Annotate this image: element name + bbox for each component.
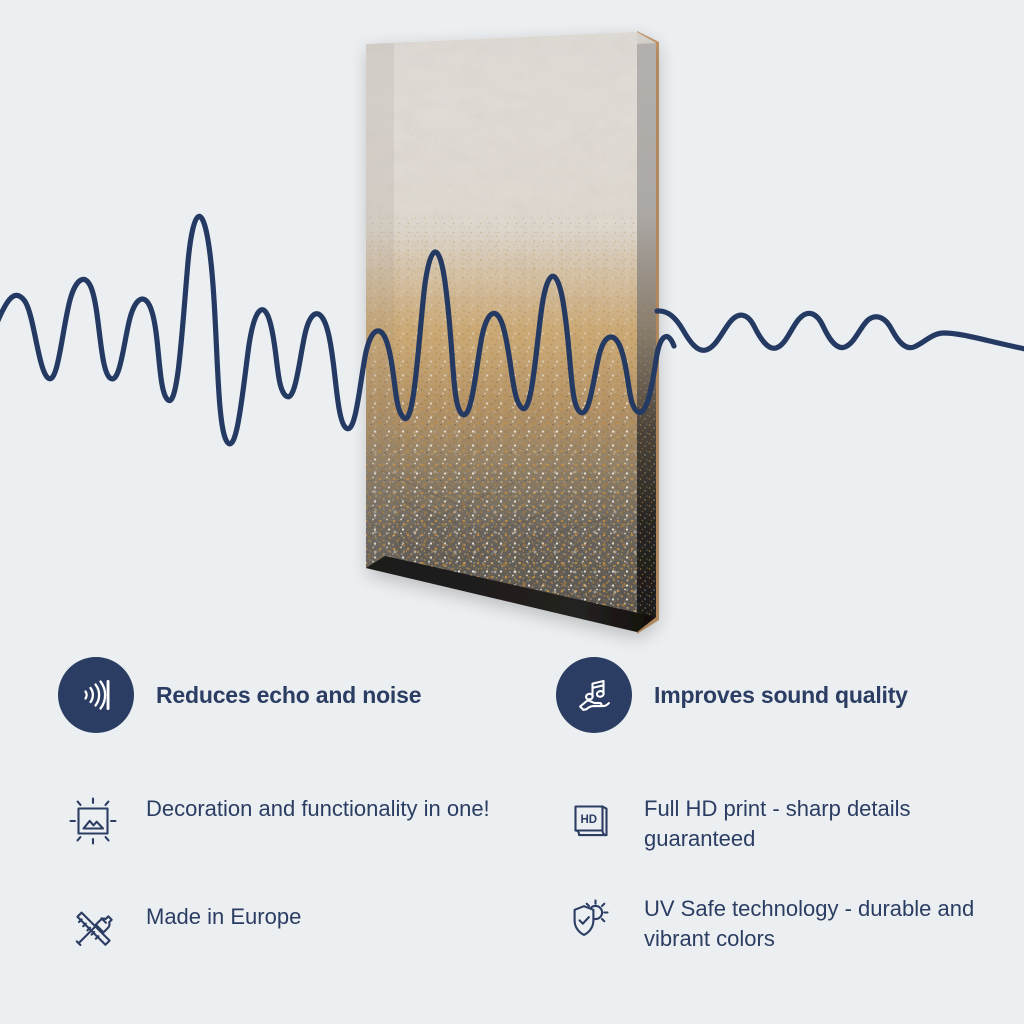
badge-title: Improves sound quality bbox=[654, 682, 908, 709]
badge-circle bbox=[556, 657, 632, 733]
ruler-hammer-icon bbox=[64, 900, 122, 958]
feature-text: Full HD print - sharp details guaranteed bbox=[644, 790, 994, 854]
feature-icon-wrap bbox=[560, 890, 622, 952]
feature-icon-wrap: HD bbox=[560, 790, 622, 852]
feature-text: UV Safe technology - durable and vibrant… bbox=[644, 890, 994, 954]
feature-uv-safe[interactable]: UV Safe technology - durable and vibrant… bbox=[560, 890, 994, 954]
badge-title: Reduces echo and noise bbox=[156, 682, 421, 709]
sound-wave-wall-icon bbox=[73, 672, 119, 718]
framed-picture-shine-icon bbox=[64, 792, 122, 850]
feature-text: Decoration and functionality in one! bbox=[146, 790, 490, 824]
feature-decoration[interactable]: Decoration and functionality in one! bbox=[62, 790, 490, 852]
badge-circle bbox=[58, 657, 134, 733]
feature-made-in-europe[interactable]: Made in Europe bbox=[62, 898, 301, 960]
hand-music-note-icon bbox=[571, 672, 617, 718]
feature-text: Made in Europe bbox=[146, 898, 301, 932]
feature-icon-wrap bbox=[62, 790, 124, 852]
feature-icon-wrap bbox=[62, 898, 124, 960]
feature-full-hd-print[interactable]: HD Full HD print - sharp details guarant… bbox=[560, 790, 994, 854]
canvas-front-face bbox=[360, 25, 665, 640]
shield-sun-check-icon bbox=[562, 892, 620, 950]
infographic-stage: Reduces echo and noise Improves so bbox=[0, 0, 1024, 1024]
badge-reduces-echo[interactable]: Reduces echo and noise bbox=[58, 657, 421, 733]
hd-canvas-icon: HD bbox=[562, 792, 620, 850]
canvas-artwork bbox=[0, 0, 1024, 1024]
canvas-body bbox=[360, 0, 670, 1024]
hd-label: HD bbox=[580, 814, 597, 826]
badge-improves-sound[interactable]: Improves sound quality bbox=[556, 657, 908, 733]
